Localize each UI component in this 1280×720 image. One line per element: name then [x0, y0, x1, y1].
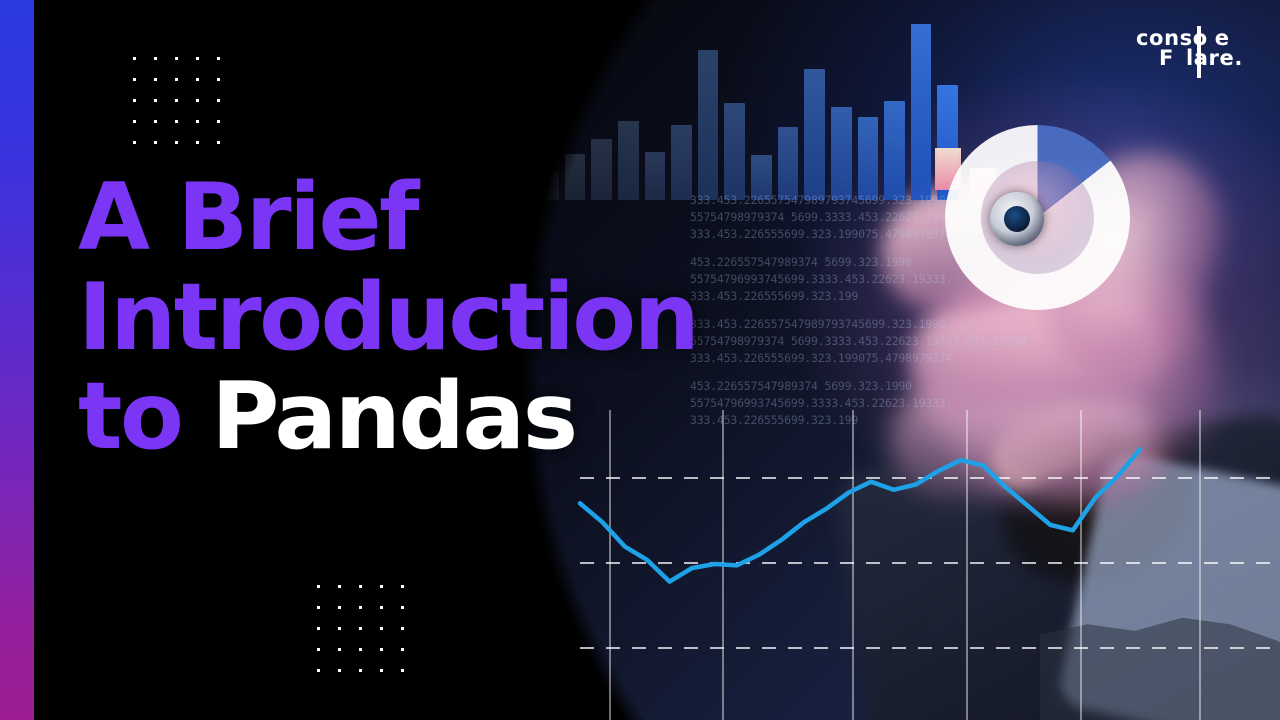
decor-dot: [217, 120, 220, 123]
decor-dot: [175, 141, 178, 144]
left-accent-bar: [0, 0, 34, 720]
bar-item: [884, 101, 905, 200]
bar-item: [724, 103, 745, 200]
decor-dot: [317, 606, 320, 609]
decor-dot: [338, 585, 341, 588]
decor-dot: [154, 141, 157, 144]
decor-dot: [359, 585, 362, 588]
area-chart-path: [1040, 562, 1280, 720]
promo-banner: 333.453.226557547989793745699.323.1990 5…: [0, 0, 1280, 720]
decor-dot: [359, 627, 362, 630]
decor-dot: [196, 57, 199, 60]
decor-dot: [217, 78, 220, 81]
decor-dot: [401, 627, 404, 630]
page-title: A Brief Introduction to Pandas: [78, 168, 697, 467]
decor-dot: [338, 606, 341, 609]
decor-dot: [154, 99, 157, 102]
bar-item: [804, 69, 825, 200]
decor-dot: [401, 585, 404, 588]
decor-dot: [359, 648, 362, 651]
headline-line-3-white: Pandas: [211, 362, 575, 470]
decor-dot: [338, 669, 341, 672]
decor-dot: [154, 120, 157, 123]
decor-dot: [317, 669, 320, 672]
headline-line-3: to Pandas: [78, 367, 697, 467]
stylus-core: [1004, 206, 1030, 232]
decor-dot: [175, 57, 178, 60]
decor-dot: [380, 648, 383, 651]
consoleflare-logo[interactable]: consoe Flare.: [1136, 27, 1262, 83]
decor-dot: [338, 627, 341, 630]
decor-dot: [338, 648, 341, 651]
bar-item: [778, 127, 799, 200]
decor-dot: [359, 606, 362, 609]
headline-line-2: Introduction: [78, 268, 697, 368]
numeric-block: 333.453.226557547989793745699.323.1990 5…: [690, 316, 1026, 367]
decor-dot: [196, 141, 199, 144]
bar-item: [831, 107, 852, 200]
decor-dot: [317, 585, 320, 588]
bar-item: [858, 117, 879, 200]
decor-dot: [175, 99, 178, 102]
decor-dot: [380, 585, 383, 588]
decor-dot: [154, 57, 157, 60]
decor-dot: [380, 606, 383, 609]
decor-dot: [133, 99, 136, 102]
logo-word-flare: Flare.: [1159, 47, 1243, 69]
decor-dot: [217, 141, 220, 144]
background-area-chart: [1040, 520, 1280, 720]
bar-item: [911, 24, 932, 200]
decor-dot: [401, 648, 404, 651]
decor-dot: [380, 627, 383, 630]
headline-line-3-purple: to: [78, 362, 211, 470]
decor-dot: [217, 99, 220, 102]
decor-dot: [133, 78, 136, 81]
decor-dot: [196, 99, 199, 102]
logo-flare-text: lare.: [1186, 46, 1243, 70]
dot-grid-top: [133, 57, 220, 144]
headline-line-1: A Brief: [78, 168, 697, 268]
decor-dot: [196, 78, 199, 81]
decor-dot: [359, 669, 362, 672]
decor-dot: [133, 57, 136, 60]
decor-dot: [317, 648, 320, 651]
decor-dot: [401, 606, 404, 609]
bar-item: [698, 50, 719, 200]
decor-dot: [380, 669, 383, 672]
decor-dot: [175, 120, 178, 123]
decor-dot: [133, 120, 136, 123]
decor-dot: [133, 141, 136, 144]
numeric-block: 453.226557547989374 5699.323.1990 557547…: [690, 378, 1026, 429]
decor-dot: [317, 627, 320, 630]
decor-dot: [401, 669, 404, 672]
logo-flare-initial: F: [1159, 46, 1174, 70]
decor-dot: [175, 78, 178, 81]
decor-dot: [154, 78, 157, 81]
dot-grid-bottom: [317, 585, 404, 672]
decor-dot: [217, 57, 220, 60]
decor-dot: [196, 120, 199, 123]
